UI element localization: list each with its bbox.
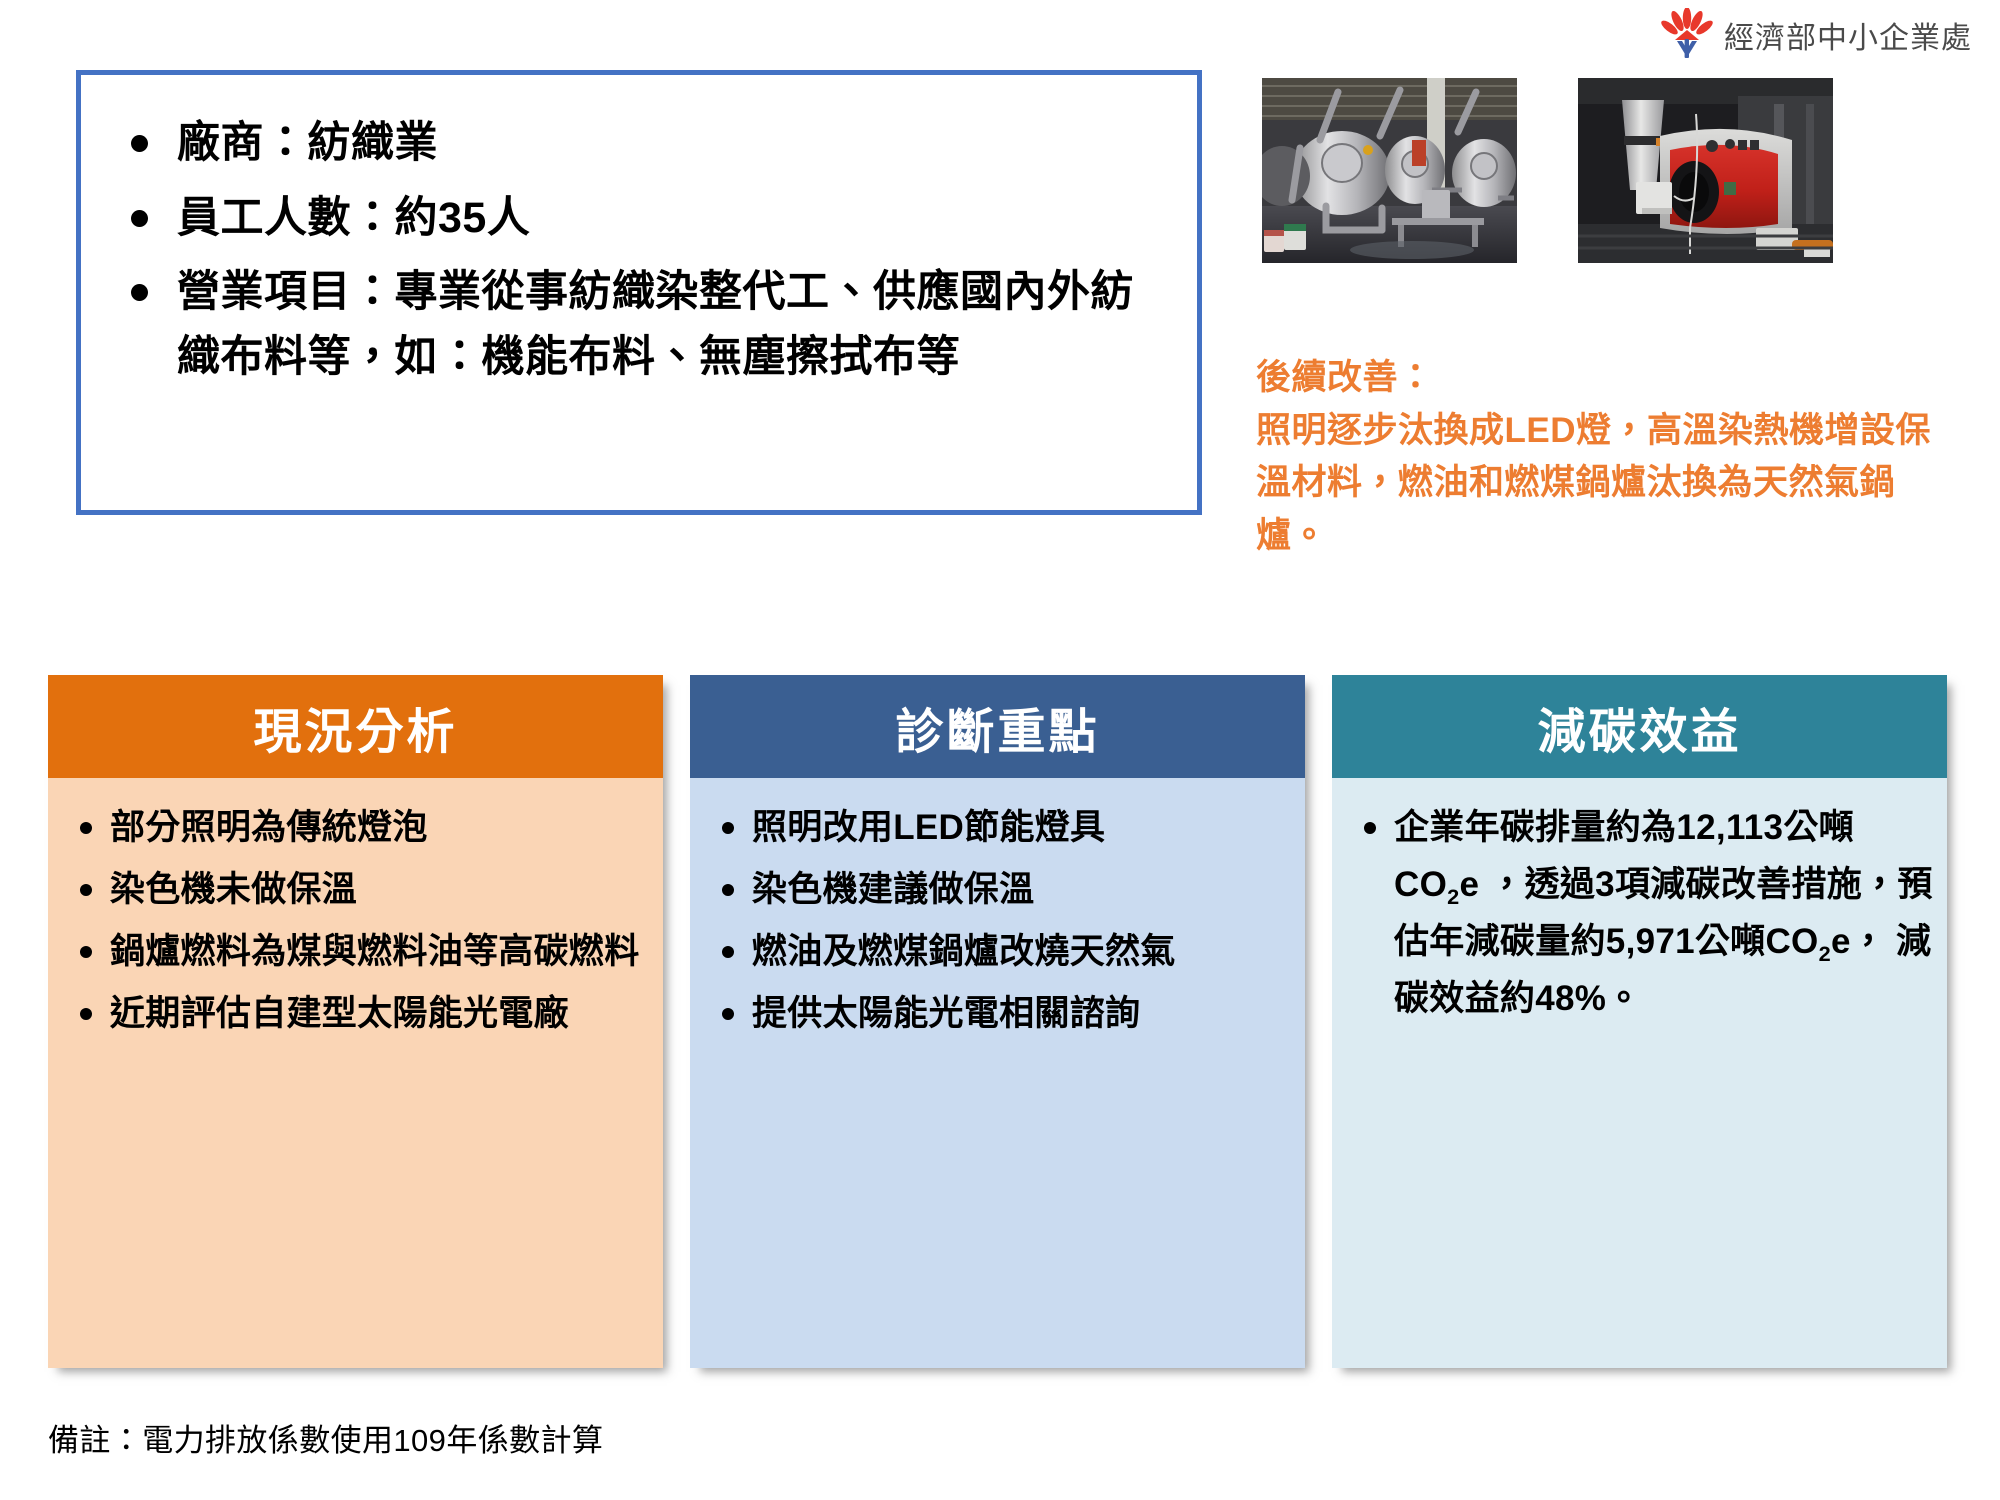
list-item: 提供太陽能光電相關諮詢 bbox=[704, 986, 1291, 1042]
footnote: 備註：電力排放係數使用109年係數計算 bbox=[48, 1415, 603, 1460]
logo-text: 經濟部中小企業處 bbox=[1724, 13, 1972, 57]
panel-current-analysis: 現況分析 部分照明為傳統燈泡 染色機未做保溫 鍋爐燃料為煤與燃料油等高碳燃料 近… bbox=[48, 675, 663, 1368]
diagnosis-points-list: 照明改用LED節能燈具 染色機建議做保溫 燃油及燃煤鍋爐改燒天然氣 提供太陽能光… bbox=[704, 800, 1291, 1042]
list-item: 鍋爐燃料為煤與燃料油等高碳燃料 bbox=[62, 924, 649, 980]
panel-diagnosis-points-title: 診斷重點 bbox=[690, 675, 1305, 778]
list-item: 廠商：紡織業 bbox=[115, 111, 1163, 176]
list-item: 燃油及燃煤鍋爐改燒天然氣 bbox=[704, 924, 1291, 980]
list-item: 營業項目：專業從事紡織染整代工、供應國內外紡織布料等，如：機能布料、無塵擦拭布等 bbox=[115, 260, 1163, 389]
followup-title: 後續改善： bbox=[1256, 352, 1956, 405]
company-info-list: 廠商：紡織業 員工人數：約35人 營業項目：專業從事紡織染整代工、供應國內外紡織… bbox=[81, 75, 1197, 389]
panel-diagnosis-points: 診斷重點 照明改用LED節能燈具 染色機建議做保溫 燃油及燃煤鍋爐改燒天然氣 提… bbox=[690, 675, 1305, 1368]
list-item: 染色機未做保溫 bbox=[62, 862, 649, 918]
list-item: 近期評估自建型太陽能光電廠 bbox=[62, 986, 649, 1042]
boiler-photo bbox=[1578, 78, 1833, 263]
carbon-benefit-list: 企業年碳排量約為12,113公噸CO2e ，透過3項減碳改善措施，預估年減碳量約… bbox=[1346, 800, 1933, 1028]
fan-flower-logo-icon bbox=[1660, 8, 1714, 62]
list-item: 員工人數：約35人 bbox=[115, 186, 1163, 251]
list-item: 部分照明為傳統燈泡 bbox=[62, 800, 649, 856]
agency-logo: 經濟部中小企業處 bbox=[1660, 8, 1972, 62]
list-item: 照明改用LED節能燈具 bbox=[704, 800, 1291, 856]
followup-improvement-note: 後續改善： 照明逐步汰換成LED燈，高溫染熱機增設保溫材料，燃油和燃煤鍋爐汰換為… bbox=[1256, 352, 1956, 562]
panel-carbon-benefit: 減碳效益 企業年碳排量約為12,113公噸CO2e ，透過3項減碳改善措施，預估… bbox=[1332, 675, 1947, 1368]
panel-current-analysis-body: 部分照明為傳統燈泡 染色機未做保溫 鍋爐燃料為煤與燃料油等高碳燃料 近期評估自建… bbox=[48, 778, 663, 1368]
panel-carbon-benefit-title: 減碳效益 bbox=[1332, 675, 1947, 778]
list-item: 企業年碳排量約為12,113公噸CO2e ，透過3項減碳改善措施，預估年減碳量約… bbox=[1346, 800, 1933, 1028]
current-analysis-list: 部分照明為傳統燈泡 染色機未做保溫 鍋爐燃料為煤與燃料油等高碳燃料 近期評估自建… bbox=[62, 800, 649, 1042]
panel-current-analysis-title: 現況分析 bbox=[48, 675, 663, 778]
panel-diagnosis-points-body: 照明改用LED節能燈具 染色機建議做保溫 燃油及燃煤鍋爐改燒天然氣 提供太陽能光… bbox=[690, 778, 1305, 1368]
dyeing-machine-photo bbox=[1262, 78, 1517, 263]
panel-carbon-benefit-body: 企業年碳排量約為12,113公噸CO2e ，透過3項減碳改善措施，預估年減碳量約… bbox=[1332, 778, 1947, 1368]
company-info-box: 廠商：紡織業 員工人數：約35人 營業項目：專業從事紡織染整代工、供應國內外紡織… bbox=[76, 70, 1202, 515]
followup-body: 照明逐步汰換成LED燈，高溫染熱機增設保溫材料，燃油和燃煤鍋爐汰換為天然氣鍋爐。 bbox=[1256, 405, 1956, 563]
list-item: 染色機建議做保溫 bbox=[704, 862, 1291, 918]
